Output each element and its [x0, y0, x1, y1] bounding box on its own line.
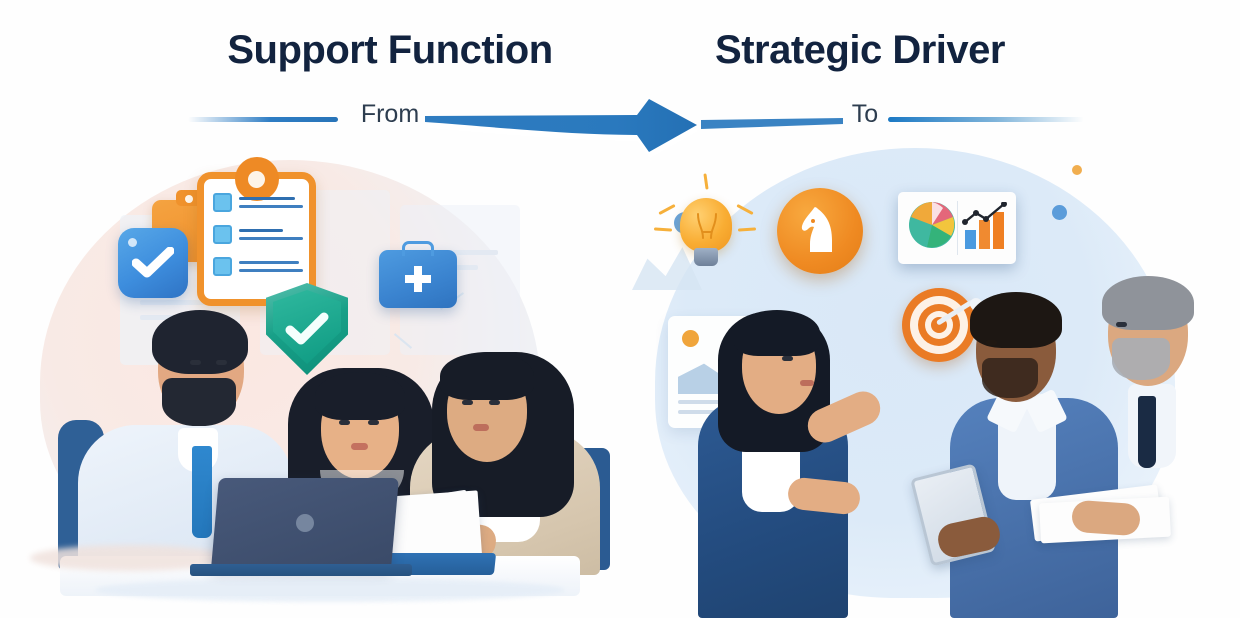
medical-kit-icon [379, 250, 457, 308]
bar-chart-icon [962, 202, 1008, 250]
eye [986, 340, 997, 345]
laptop-base [190, 564, 412, 576]
pie-chart-icon [907, 200, 957, 250]
hair-front [315, 372, 405, 420]
illustration-canvas: Support Function Strategic Driver From T… [0, 0, 1240, 618]
mouth [351, 443, 368, 450]
checklist-box [213, 225, 232, 244]
checklist-lines [239, 229, 303, 240]
hair [970, 292, 1062, 348]
checklist-icon [197, 172, 316, 306]
checklist-box [213, 257, 232, 276]
eye [462, 400, 473, 405]
bg-dot [1072, 165, 1082, 175]
checklist-lines [239, 261, 303, 272]
target-icon [902, 288, 976, 362]
eye [368, 420, 379, 425]
necktie [192, 446, 212, 538]
support-function-scene [0, 0, 620, 618]
desk-shadow [95, 578, 565, 602]
eye [1116, 322, 1127, 327]
blue-checkbox-icon [118, 228, 188, 298]
mini-card-dot-orange [682, 330, 699, 347]
eye [782, 356, 793, 361]
chess-knight-icon [777, 188, 863, 274]
hair-front [734, 310, 820, 356]
mouth [800, 380, 814, 386]
mouth [473, 424, 489, 431]
beard [1112, 338, 1170, 380]
checklist-lines [239, 197, 303, 208]
hair-front [440, 352, 534, 400]
laptop-logo [296, 514, 314, 532]
eye [339, 420, 350, 425]
necktie [1138, 396, 1156, 468]
eye [190, 360, 201, 365]
beard [162, 378, 236, 426]
lightbulb-icon [680, 198, 732, 252]
checklist-box [213, 193, 232, 212]
beard [982, 358, 1038, 398]
analytics-card-icon [898, 192, 1016, 264]
hand [1071, 500, 1141, 537]
strategic-driver-scene [620, 0, 1240, 618]
eye [216, 360, 227, 365]
eye [489, 400, 500, 405]
bg-dot [1052, 205, 1067, 220]
